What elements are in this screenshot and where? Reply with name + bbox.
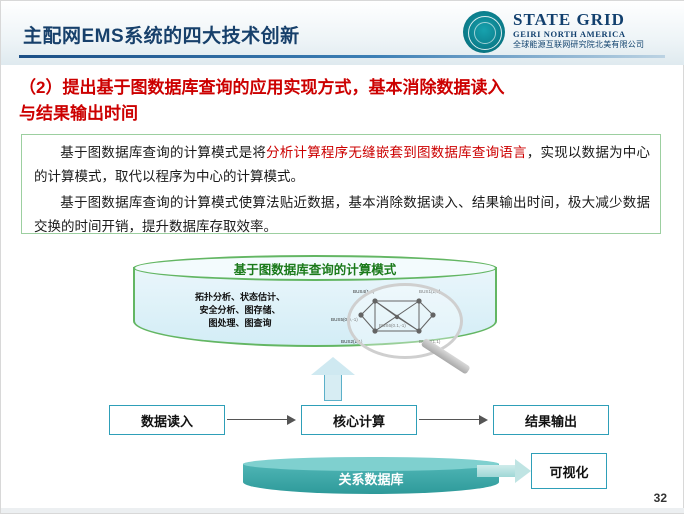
- section-heading-line-2: 与结果输出时间: [19, 101, 669, 127]
- paragraph-1-prefix: 基于图数据库查询的计算模式是将: [60, 145, 266, 160]
- arrow-head: [311, 357, 355, 375]
- section-heading-line-1: （2）提出基于图数据库查询的应用实现方式，基本消除数据读入: [19, 75, 669, 101]
- db-label: 关系数据库: [243, 469, 499, 488]
- relational-db-cylinder: 关系数据库: [243, 457, 499, 497]
- architecture-diagram: 基于图数据库查询的计算模式 拓扑分析、状态估计、安全分析、图存储、图处理、图查询: [15, 245, 671, 493]
- visualization-arrow-shaft: [477, 465, 519, 477]
- magnifier-icon: [347, 283, 463, 359]
- flow-box-core: 核心计算: [301, 405, 417, 435]
- graph-db-cylinder: 基于图数据库查询的计算模式 拓扑分析、状态估计、安全分析、图存储、图处理、图查询: [133, 255, 497, 351]
- state-grid-logo: STATE GRID GEIRI NORTH AMERICA 全球能源互联网研究…: [463, 9, 673, 55]
- state-grid-emblem-icon: [463, 11, 505, 53]
- logo-line-3: 全球能源互联网研究院北美有限公司: [513, 39, 644, 50]
- page-number: 32: [654, 491, 667, 505]
- footer-bar: [1, 508, 684, 513]
- header-divider: [19, 55, 665, 58]
- visualization-box: 可视化: [531, 453, 607, 489]
- section-heading: （2）提出基于图数据库查询的应用实现方式，基本消除数据读入 与结果输出时间: [19, 75, 669, 127]
- flow-connector-1: [227, 419, 287, 420]
- flow-connector-1-arrow: [287, 415, 296, 425]
- paragraph-2-text: 基于图数据库查询的计算模式使算法贴近数据，基本消除数据读入、结果输出时间，极大减…: [34, 195, 650, 234]
- cylinder-feature-list: 拓扑分析、状态估计、安全分析、图存储、图处理、图查询: [185, 291, 295, 330]
- graph-network-zone: BUS4(1,1) BUS1(1,1) BUS2(1,1) BUS3(1,1) …: [301, 281, 481, 355]
- paragraph-1-highlight: 分析计算程序无缝嵌套到图数据库查询语言: [266, 145, 527, 160]
- logo-text-block: STATE GRID GEIRI NORTH AMERICA 全球能源互联网研究…: [513, 11, 644, 50]
- visualization-arrow-head: [515, 459, 531, 483]
- cylinder-title: 基于图数据库查询的计算模式: [133, 259, 497, 278]
- flow-connector-2: [419, 419, 479, 420]
- paragraph-1: 基于图数据库查询的计算模式是将分析计算程序无缝嵌套到图数据库查询语言，实现以数据…: [34, 141, 650, 189]
- flow-row: 数据读入 核心计算 结果输出: [15, 405, 671, 441]
- paragraph-2: 基于图数据库查询的计算模式使算法贴近数据，基本消除数据读入、结果输出时间，极大减…: [34, 191, 650, 239]
- slide-header: 主配网EMS系统的四大技术创新 STATE GRID GEIRI NORTH A…: [1, 1, 684, 65]
- page-title: 主配网EMS系统的四大技术创新: [23, 21, 300, 48]
- logo-line-2: GEIRI NORTH AMERICA: [513, 29, 644, 39]
- arrow-shaft: [324, 371, 342, 401]
- slide: 主配网EMS系统的四大技术创新 STATE GRID GEIRI NORTH A…: [0, 0, 684, 514]
- body-text-box: 基于图数据库查询的计算模式是将分析计算程序无缝嵌套到图数据库查询语言，实现以数据…: [21, 134, 661, 234]
- flow-box-output: 结果输出: [493, 405, 609, 435]
- logo-line-1: STATE GRID: [513, 11, 644, 29]
- flow-box-input: 数据读入: [109, 405, 225, 435]
- upward-arrow-icon: [311, 357, 355, 401]
- flow-connector-2-arrow: [479, 415, 488, 425]
